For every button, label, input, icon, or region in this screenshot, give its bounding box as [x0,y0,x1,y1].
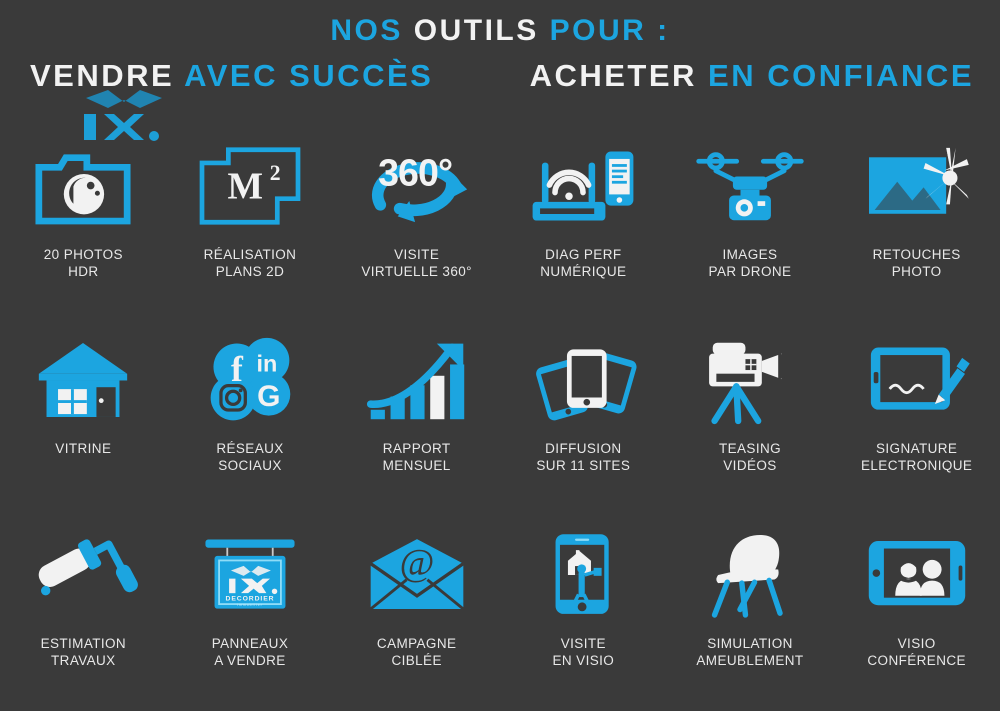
tile-simulation-ameublement: SIMULATION AMEUBLEMENT [667,517,834,711]
chair-icon [667,525,834,625]
header-outils: OUTILS [414,14,539,47]
floorplan-m2-icon: M 2 [167,136,334,236]
tile-label: PANNEAUX A VENDRE [212,635,288,669]
linkedin-in: in [256,350,277,376]
header-sell-heading: VENDRE AVEC SUCCÈS [30,58,433,94]
tile-label: RÉALISATION PLANS 2D [204,246,297,280]
header-vendre: VENDRE [30,58,174,93]
tile-label: DIAG PERF NUMÉRIQUE [540,246,626,280]
tile-label: VISITE VIRTUELLE 360° [361,246,472,280]
tablets-icon [500,330,667,430]
drone-icon [667,136,834,236]
360-degree-icon: 360° [333,136,500,236]
tile-label: IMAGES PAR DRONE [709,246,792,280]
tile-visite-virtuelle: 360° VISITE VIRTUELLE 360° [333,128,500,322]
sign-brand-name: DECORDIER [226,595,275,602]
tile-label: VISITE EN VISIO [552,635,614,669]
tile-label: VITRINE [55,440,111,457]
phone-video-visit-icon [500,525,667,625]
header-line-1: NOS OUTILS POUR : [0,14,1000,48]
tile-label: 20 PHOTOS HDR [44,246,123,280]
header-nos: NOS [330,14,403,47]
tile-label: RAPPORT MENSUEL [383,440,451,474]
tile-panneaux-a-vendre: DECORDIER immobilier PANNEAUX A VENDRE [167,517,334,711]
for-sale-sign-icon: DECORDIER immobilier [167,525,334,625]
tile-rapport-mensuel: RAPPORT MENSUEL [333,322,500,516]
email-envelope-icon: @ [333,525,500,625]
tile-retouches-photo: RETOUCHES PHOTO [833,128,1000,322]
tile-vitrine: VITRINE [0,322,167,516]
tile-label: VISIO CONFÉRENCE [867,635,966,669]
tile-label: SIGNATURE ELECTRONIQUE [861,440,972,474]
bar-chart-growth-icon [333,330,500,430]
social-networks-icon: f in G [167,330,334,430]
tile-label: DIFFUSION SUR 11 SITES [536,440,630,474]
m2-letter: M [228,166,264,208]
tools-grid: 20 PHOTOS HDR M 2 RÉALISATION PLANS 2D [0,128,1000,711]
tile-signature-electronique: SIGNATURE ELECTRONIQUE [833,322,1000,516]
tile-reseaux-sociaux: f in G RÉSEAUX SOCIAUX [167,322,334,516]
header-acheter: ACHETER [530,58,697,93]
paint-roller-icon [0,525,167,625]
tile-label: RÉSEAUX SOCIAUX [216,440,283,474]
tile-label: RETOUCHES PHOTO [873,246,961,280]
360-text: 360° [378,152,452,194]
e-signature-icon [833,330,1000,430]
header-avec-succes: AVEC SUCCÈS [184,58,433,93]
tile-label: CAMPAGNE CIBLÉE [377,635,456,669]
camera-icon [0,136,167,236]
tile-20-photos-hdr: 20 PHOTOS HDR [0,128,167,322]
tile-estimation-travaux: ESTIMATION TRAVAUX [0,517,167,711]
tile-diffusion: DIFFUSION SUR 11 SITES [500,322,667,516]
tile-label: ESTIMATION TRAVAUX [41,635,127,669]
tile-images-drone: IMAGES PAR DRONE [667,128,834,322]
tile-plans-2d: M 2 RÉALISATION PLANS 2D [167,128,334,322]
m2-exponent: 2 [270,161,281,185]
tile-teasing-videos: TEASING VIDÉOS [667,322,834,516]
photo-retouch-icon [833,136,1000,236]
at-sign: @ [399,542,434,584]
header-pour: POUR : [550,14,670,47]
sign-brand-sub: immobilier [237,603,263,607]
tile-visite-en-visio: VISITE EN VISIO [500,517,667,711]
tile-campagne-ciblee: @ CAMPAGNE CIBLÉE [333,517,500,711]
tile-diag-perf: DIAG PERF NUMÉRIQUE [500,128,667,322]
wifi-router-icon [500,136,667,236]
header-line-2: VENDRE AVEC SUCCÈS ACHETER EN CONFIANCE [0,58,1000,104]
infographic-page: NOS OUTILS POUR : VENDRE AVEC SUCCÈS ACH… [0,0,1000,711]
facebook-f: f [231,349,244,389]
shop-window-icon [0,330,167,430]
header-en-confiance: EN CONFIANCE [708,58,974,93]
tile-visio-conference: VISIO CONFÉRENCE [833,517,1000,711]
tile-label: SIMULATION AMEUBLEMENT [696,635,803,669]
header-buy-heading: ACHETER EN CONFIANCE [530,58,974,94]
tile-label: TEASING VIDÉOS [719,440,781,474]
google-g: G [257,380,280,413]
video-conference-icon [833,525,1000,625]
video-camera-icon [667,330,834,430]
